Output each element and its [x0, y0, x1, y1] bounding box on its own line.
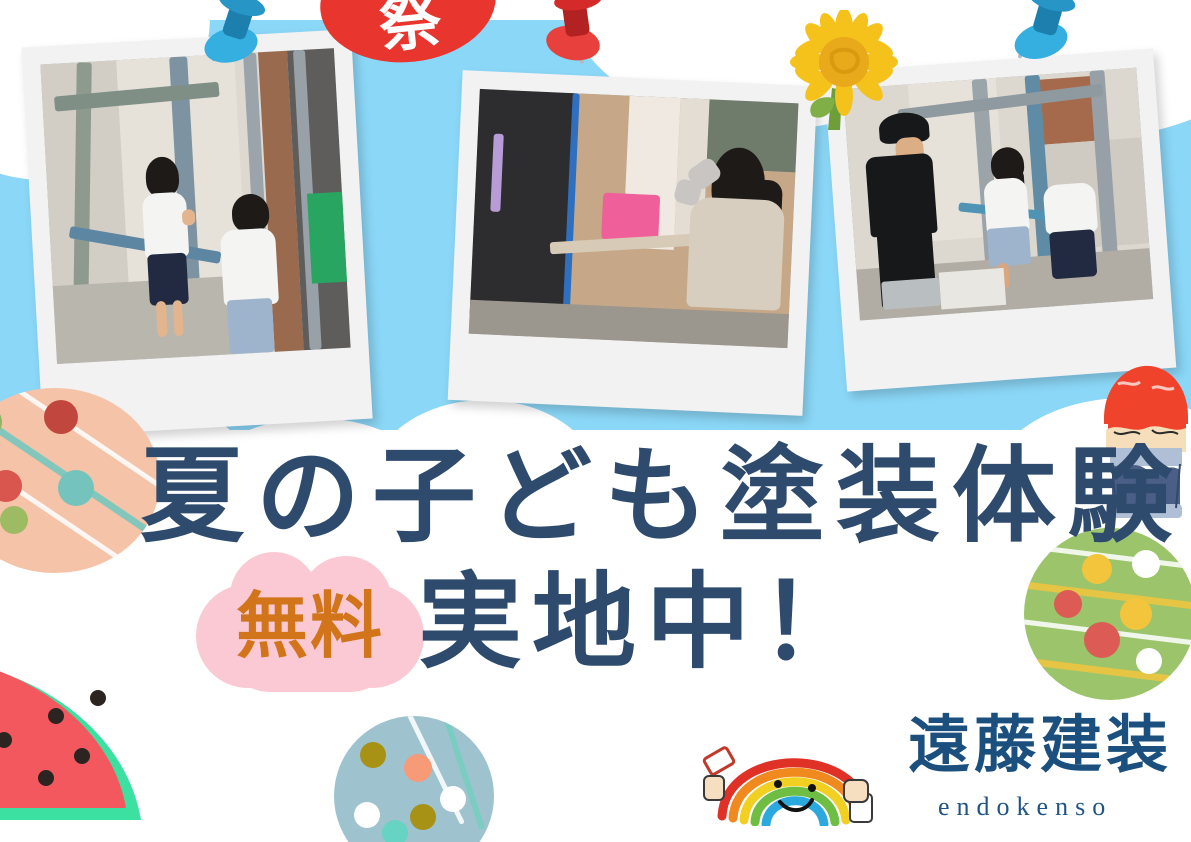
photo-card-1[interactable] — [21, 29, 372, 437]
logo-romaji: endokenso — [938, 792, 1112, 822]
photo-children-painting-scaffold — [40, 48, 350, 364]
rainbow-smile-icon — [700, 730, 890, 826]
free-badge-label: 無料 — [196, 552, 424, 692]
company-logo[interactable]: 遠藤建装 endokenso — [690, 708, 1170, 832]
free-badge: 無料 — [196, 552, 424, 692]
watermelon-icon — [0, 650, 196, 835]
headline-line-2: 実地中！ — [418, 570, 874, 674]
matsuri-kanji: 祭 — [376, 0, 445, 65]
poster-canvas: 祭 — [0, 0, 1191, 842]
photo-girl-roller-pink-bucket — [469, 89, 799, 348]
sunflower-icon — [788, 10, 908, 130]
photo-card-2[interactable] — [448, 70, 818, 416]
headline-line-1: 夏の子ども塗装体験 — [140, 444, 1184, 548]
logo-company-name: 遠藤建装 — [908, 714, 1172, 776]
